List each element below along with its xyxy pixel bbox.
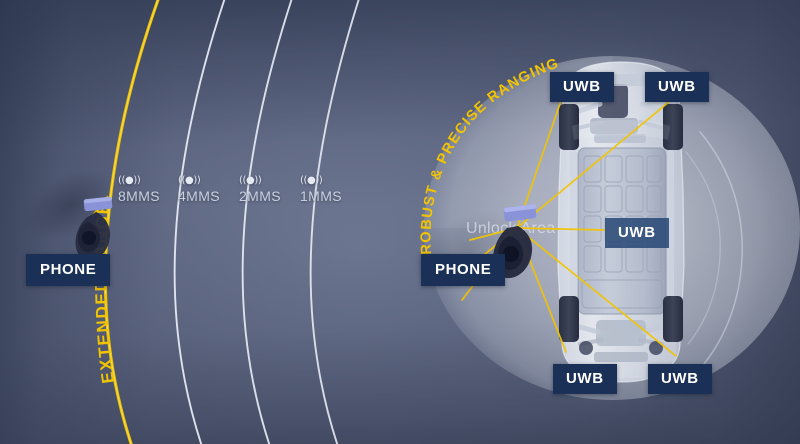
range-tick-2mms: ((●))2MMS xyxy=(239,176,281,203)
range-tick-4mms: ((●))4MMS xyxy=(178,176,220,203)
range-tick-label: 2MMS xyxy=(239,189,281,203)
range-tick-1mms: ((●))1MMS xyxy=(300,176,342,203)
badge-uwb-rear-left[interactable]: UWB xyxy=(553,364,617,394)
badge-uwb-front-right[interactable]: UWB xyxy=(645,72,709,102)
range-tick-8mms: ((●))8MMS xyxy=(118,176,160,203)
badge-uwb-rear-right[interactable]: UWB xyxy=(648,364,712,394)
signal-icon: ((●)) xyxy=(239,176,281,186)
diagram-canvas: Unlock Area EXTENDED RANGE ROBUST & PREC… xyxy=(0,0,800,444)
range-tick-label: 8MMS xyxy=(118,189,160,203)
signal-icon: ((●)) xyxy=(178,176,220,186)
badge-uwb-front-left[interactable]: UWB xyxy=(550,72,614,102)
range-tick-label: 4MMS xyxy=(178,189,220,203)
badge-phone-near[interactable]: PHONE xyxy=(421,254,505,286)
range-tick-label: 1MMS xyxy=(300,189,342,203)
signal-icon: ((●)) xyxy=(118,176,160,186)
signal-icon: ((●)) xyxy=(300,176,342,186)
badge-uwb-center[interactable]: UWB xyxy=(605,218,669,248)
badge-phone-far[interactable]: PHONE xyxy=(26,254,110,286)
person-with-phone-far xyxy=(75,197,112,261)
